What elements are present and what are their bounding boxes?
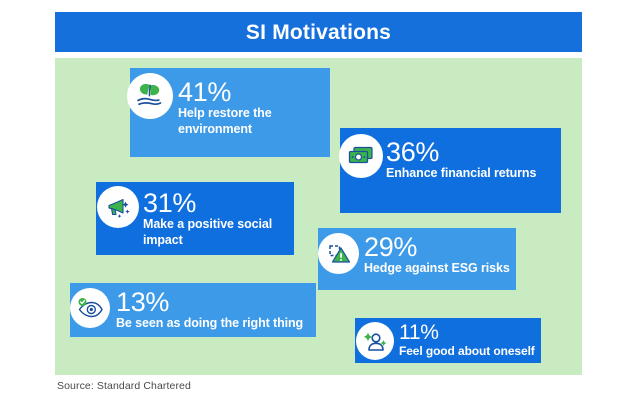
banknotes-icon bbox=[339, 134, 383, 178]
bar-percent-31: 31% bbox=[143, 189, 293, 217]
bar-percent-41: 41% bbox=[178, 78, 328, 106]
megaphone-icon bbox=[97, 186, 139, 228]
bar-label-11-line1: Feel good about oneself bbox=[399, 344, 544, 359]
bar-label-31-line1: Make a positive social bbox=[143, 217, 293, 232]
bar-label-36-line1: Enhance financial returns bbox=[386, 166, 561, 181]
bar-percent-29: 29% bbox=[364, 233, 519, 261]
warning-triangle-icon bbox=[318, 233, 359, 274]
bar-label-41-line1: Help restore the bbox=[178, 106, 328, 121]
infographic-canvas: SI Motivations 41% Help restore the envi… bbox=[0, 0, 640, 400]
plant-in-hand-icon bbox=[127, 73, 173, 119]
bar-label-29-line1: Hedge against ESG risks bbox=[364, 261, 519, 276]
bar-percent-36: 36% bbox=[386, 138, 561, 166]
bar-percent-11: 11% bbox=[399, 322, 544, 344]
bar-label-13-line1: Be seen as doing the right thing bbox=[116, 316, 316, 331]
eye-check-icon bbox=[70, 288, 110, 328]
person-sparkle-icon bbox=[356, 322, 394, 360]
page-title: SI Motivations bbox=[246, 22, 391, 43]
title-banner: SI Motivations bbox=[55, 12, 582, 52]
bar-label-group-41: 41% Help restore the environment bbox=[178, 78, 328, 137]
bar-label-group-31: 31% Make a positive social impact bbox=[143, 189, 293, 248]
bar-label-41-line2: environment bbox=[178, 122, 328, 137]
bar-label-group-29: 29% Hedge against ESG risks bbox=[364, 233, 519, 277]
bar-label-group-13: 13% Be seen as doing the right thing bbox=[116, 288, 316, 332]
bar-label-31-line2: impact bbox=[143, 233, 293, 248]
bar-percent-13: 13% bbox=[116, 288, 316, 316]
bar-label-group-36: 36% Enhance financial returns bbox=[386, 138, 561, 182]
source-caption: Source: Standard Chartered bbox=[57, 380, 191, 392]
bar-label-group-11: 11% Feel good about oneself bbox=[399, 322, 544, 359]
